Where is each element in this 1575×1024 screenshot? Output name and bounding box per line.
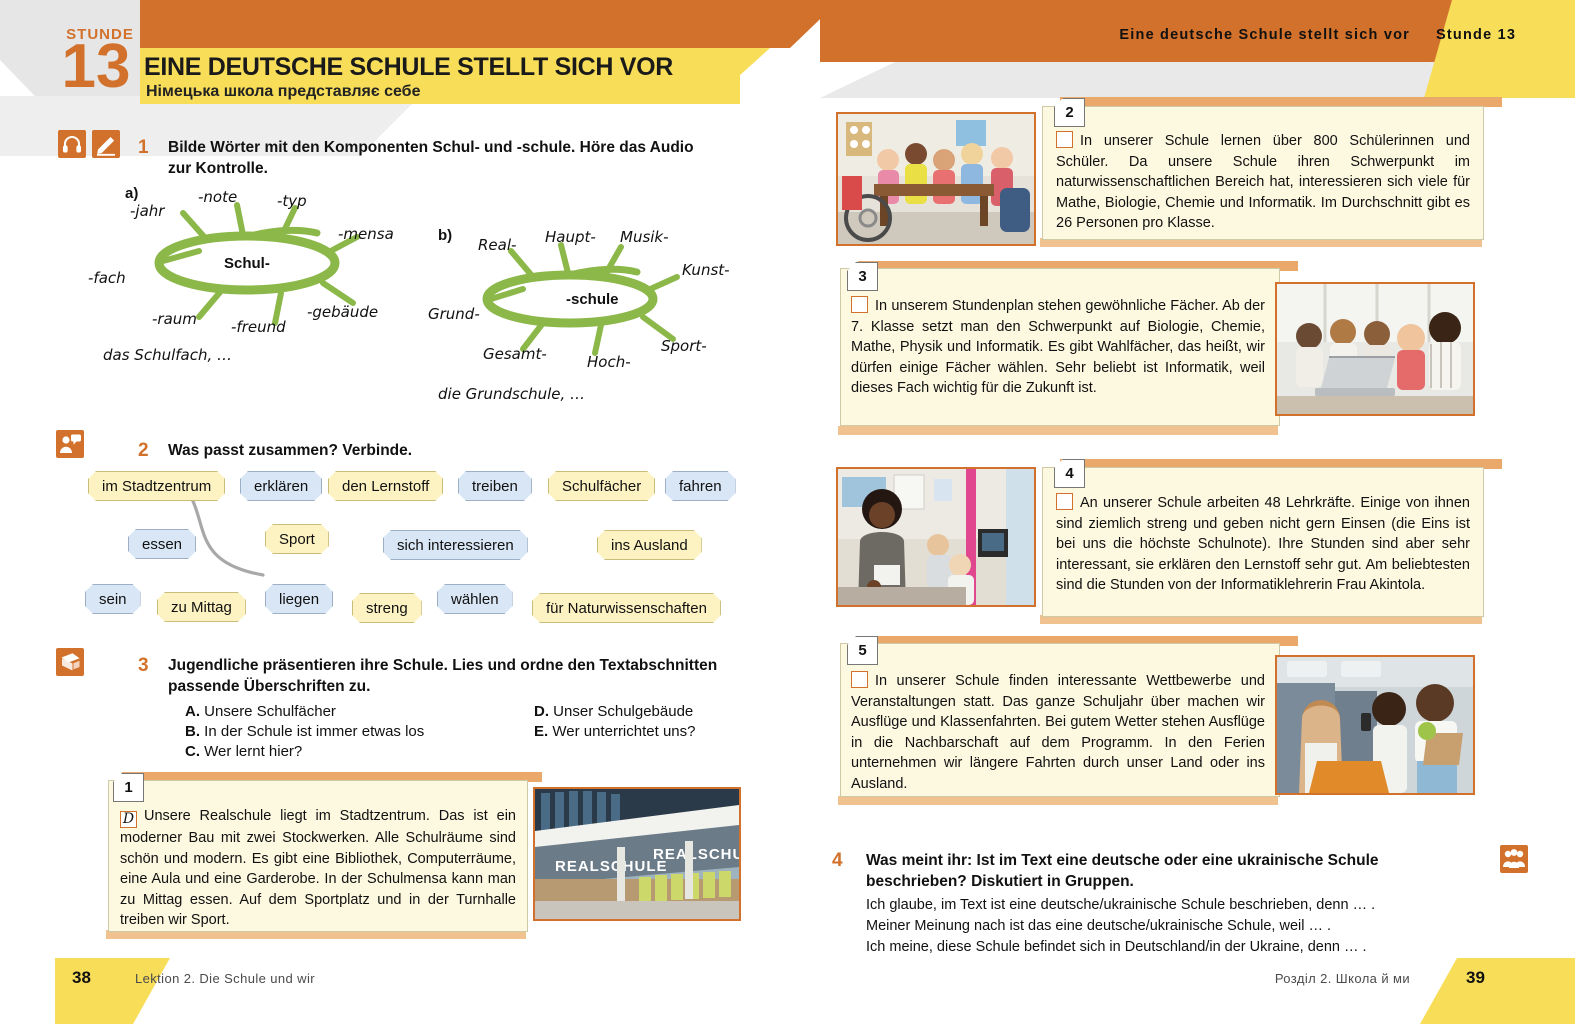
card-5-number: 5 [847,636,878,665]
ex4-phrase-0: Ich glaube, im Text ist eine deutsche/uk… [866,897,1375,913]
word-web-b-branch-7: Hoch- [587,353,631,371]
card-3-number: 3 [847,262,878,291]
card-4-photo [836,467,1036,607]
footer-text-left: Lektion 2. Die Schule und wir [135,971,315,986]
chip-sein[interactable]: sein [85,584,141,614]
stunde-number: 13 [55,36,137,98]
task-1-instruction-line1: Bilde Wörter mit den Komponenten Schul- … [168,139,694,156]
card-4-number: 4 [1054,459,1085,488]
ex4-phrase-2: Ich meine, diese Schule befindet sich in… [866,939,1367,955]
heading-option-B: B. In der Schule ist immer etwas los [185,723,424,740]
heading-option-B-text: In der Schule ist immer etwas los [204,723,424,740]
word-web-b-branch-0: Haupt- [545,228,596,246]
task-3-number: 3 [138,655,149,677]
task-3-instruction-line1: Jugendliche präsentieren ihre Schule. Li… [168,657,717,674]
chip-treiben[interactable]: treiben [458,471,532,501]
card-5-body: In unserer Schule finden interessante We… [851,673,1265,792]
card-3-shadow-bottom [838,426,1278,435]
card-3-text: In unserem Stundenplan stehen gewöhnlich… [851,296,1265,399]
task-2-number: 2 [138,440,149,462]
page-subtitle: Німецька школа представляє себе [146,83,420,101]
chip-essen[interactable]: essen [128,529,196,559]
card-2-photo [836,112,1036,246]
task-2-instruction: Was passt zusammen? Verbinde. [168,440,412,461]
chip-ins-ausland[interactable]: ins Ausland [597,530,702,560]
running-head-text: Eine deutsche Schule stellt sich vor [1000,27,1410,43]
card-4-text: An unserer Schule arbeiten 48 Lehrkräfte… [1056,493,1470,596]
chip-im-stadtzentrum[interactable]: im Stadtzentrum [88,471,225,501]
chip-waehlen[interactable]: wählen [437,584,513,614]
card-1-photo: REALSCHULE REALSCHULE [533,787,741,921]
card-3-answer-box[interactable] [851,296,868,313]
word-web-a-branch-3: -mensa [338,225,394,243]
heading-option-C-key: C. [185,743,200,760]
heading-option-E-key: E. [534,723,548,740]
task-1-number: 1 [138,137,149,159]
footer-text-right: Розділ 2. Школа й ми [1180,971,1410,986]
card-2-number: 2 [1054,98,1085,127]
chip-schulfaecher[interactable]: Schulfächer [548,471,655,501]
svg-text:REALSCHULE: REALSCHULE [653,846,739,863]
book-icon [56,648,84,676]
chip-zu-mittag[interactable]: zu Mittag [157,592,246,622]
card-3-body: In unserem Stundenplan stehen gewöhnlich… [851,298,1265,396]
heading-option-D: D. Unser Schulgebäude [534,703,693,720]
word-web-a-center: Schul- [224,255,270,272]
running-head-stunde: Stunde 13 [1436,27,1516,43]
word-web-a-branch-7: -freund [231,318,286,336]
card-2-answer-box[interactable] [1056,131,1073,148]
pencil-icon [92,130,120,158]
group-work-icon [1500,845,1528,873]
heading-option-E-text: Wer unterrichtet uns? [552,723,695,740]
word-web-b-branch-4: Grund- [428,305,480,323]
heading-option-D-text: Unser Schulgebäude [553,703,693,720]
card-5-text: In unserer Schule finden interessante We… [851,671,1265,794]
chip-streng[interactable]: streng [352,593,422,623]
card-4-body: An unserer Schule arbeiten 48 Lehrkräfte… [1056,495,1470,593]
word-web-b-center: -schule [566,291,619,308]
word-web-a-branch-1: -typ [277,192,307,210]
card-4-answer-box[interactable] [1056,493,1073,510]
word-web-b-branch-2: Real- [478,236,516,254]
word-web-b-branch-3: Kunst- [682,261,730,279]
heading-option-A: A. Unsere Schulfächer [185,703,336,720]
heading-option-A-key: A. [185,703,200,720]
footer-tab-right [1420,958,1575,1024]
word-web-a-branch-5: -gebäude [307,303,378,321]
chip-sport[interactable]: Sport [265,524,329,554]
header-orange-bar [140,0,790,48]
page-title: EINE DEUTSCHE SCHULE STELLT SICH VOR [144,53,673,82]
word-web-b-branch-6: Gesamt- [483,345,547,363]
card-2-body: In unserer Schule lernen über 800 Schüle… [1056,133,1470,231]
task-4-instruction-line2: beschrieben? Diskutiert in Gruppen. [866,873,1134,890]
ex4-phrase-1: Meiner Meinung nach ist das eine deutsch… [866,918,1331,934]
chip-fahren[interactable]: fahren [665,471,736,501]
card-5-shadow-bottom [838,796,1278,805]
task-4-instruction-line1: Was meint ihr: Ist im Text eine deutsche… [866,852,1379,869]
word-web-a-branch-4: -fach [88,269,126,287]
card-2-text: In unserer Schule lernen über 800 Schüle… [1056,131,1470,234]
word-web-a-branch-2: -jahr [130,202,164,220]
chip-fuer-naturwissenschaften[interactable]: für Naturwissenschaften [532,593,721,623]
svg-text:REALSCHULE: REALSCHULE [555,858,668,875]
word-web-a-branch-6: -raum [152,310,197,328]
heading-option-C-text: Wer lernt hier? [204,743,302,760]
textbook-spread: STUNDE 13 EINE DEUTSCHE SCHULE STELLT SI… [0,0,1575,1024]
heading-option-A-text: Unsere Schulfächer [204,703,336,720]
headphones-icon [58,130,86,158]
card-1-text: DUnsere Realschule liegt im Stadtzentrum… [120,806,516,931]
word-web-a-example: das Schulfach, … [103,346,232,364]
chip-liegen[interactable]: liegen [265,584,333,614]
heading-option-C: C. Wer lernt hier? [185,743,302,760]
word-web-b-example: die Grundschule, … [438,385,585,403]
word-web-a-branch-0: -note [198,188,237,206]
chip-erklaeren[interactable]: erklären [240,471,322,501]
card-1-body: Unsere Realschule liegt im Stadtzentrum.… [120,808,516,928]
card-1-number: 1 [113,773,144,802]
card-1-answer-box[interactable]: D [120,811,137,828]
task-4-number: 4 [832,850,843,872]
footer-page-number-right: 39 [1466,968,1485,988]
heading-option-D-key: D. [534,703,549,720]
word-web-b-branch-5: Sport- [661,337,707,355]
card-3-photo [1275,282,1475,416]
pair-work-icon [56,430,84,458]
heading-option-B-key: B. [185,723,200,740]
card-5-photo [1275,655,1475,795]
chip-sich-interessieren[interactable]: sich interessieren [383,530,528,560]
card-5-answer-box[interactable] [851,671,868,688]
footer-page-number-left: 38 [72,968,91,988]
word-web-b-branch-1: Musik- [620,228,669,246]
heading-option-E: E. Wer unterrichtet uns? [534,723,695,740]
chip-den-lernstoff[interactable]: den Lernstoff [328,471,443,501]
task-3-instruction-line2: passende Überschriften zu. [168,678,370,695]
